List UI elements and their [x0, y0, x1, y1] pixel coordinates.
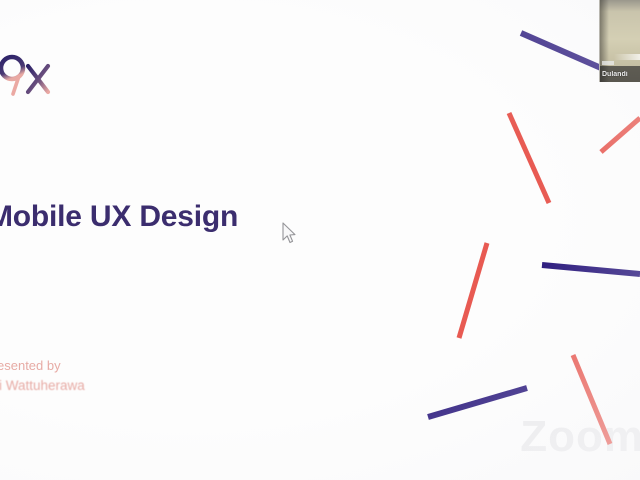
zoom-screen-share-viewport: Mobile UX Design Presented by adi Wattuh…	[0, 0, 640, 480]
participant-name-label: Dulandi	[600, 71, 628, 78]
red-stroke-upper-left	[509, 113, 549, 203]
navy-stroke-bottom	[428, 388, 527, 417]
red-stroke-center	[459, 243, 487, 338]
slide-title: Mobile UX Design	[0, 200, 238, 234]
navy-stroke-middle	[542, 265, 640, 274]
annotation-stroke-layer	[0, 0, 640, 480]
participant-video-thumbnail[interactable]: Dulandi	[599, 0, 640, 82]
presenter-name: adi Wattuherawa	[0, 376, 85, 397]
zoom-watermark: Zoom	[520, 412, 640, 462]
presenter-credit-block: Presented by adi Wattuherawa	[0, 356, 85, 397]
presented-by-label: Presented by	[0, 356, 85, 376]
microphone-indicator-icon	[602, 61, 614, 65]
brand-logo-9x-icon	[0, 48, 66, 106]
video-highlight-streak	[614, 54, 640, 60]
navy-stroke-top	[521, 33, 601, 68]
shared-slide-content: Mobile UX Design Presented by adi Wattuh…	[0, 0, 640, 480]
red-stroke-upper-right	[601, 118, 640, 152]
participant-name-bar: Dulandi	[600, 66, 640, 82]
